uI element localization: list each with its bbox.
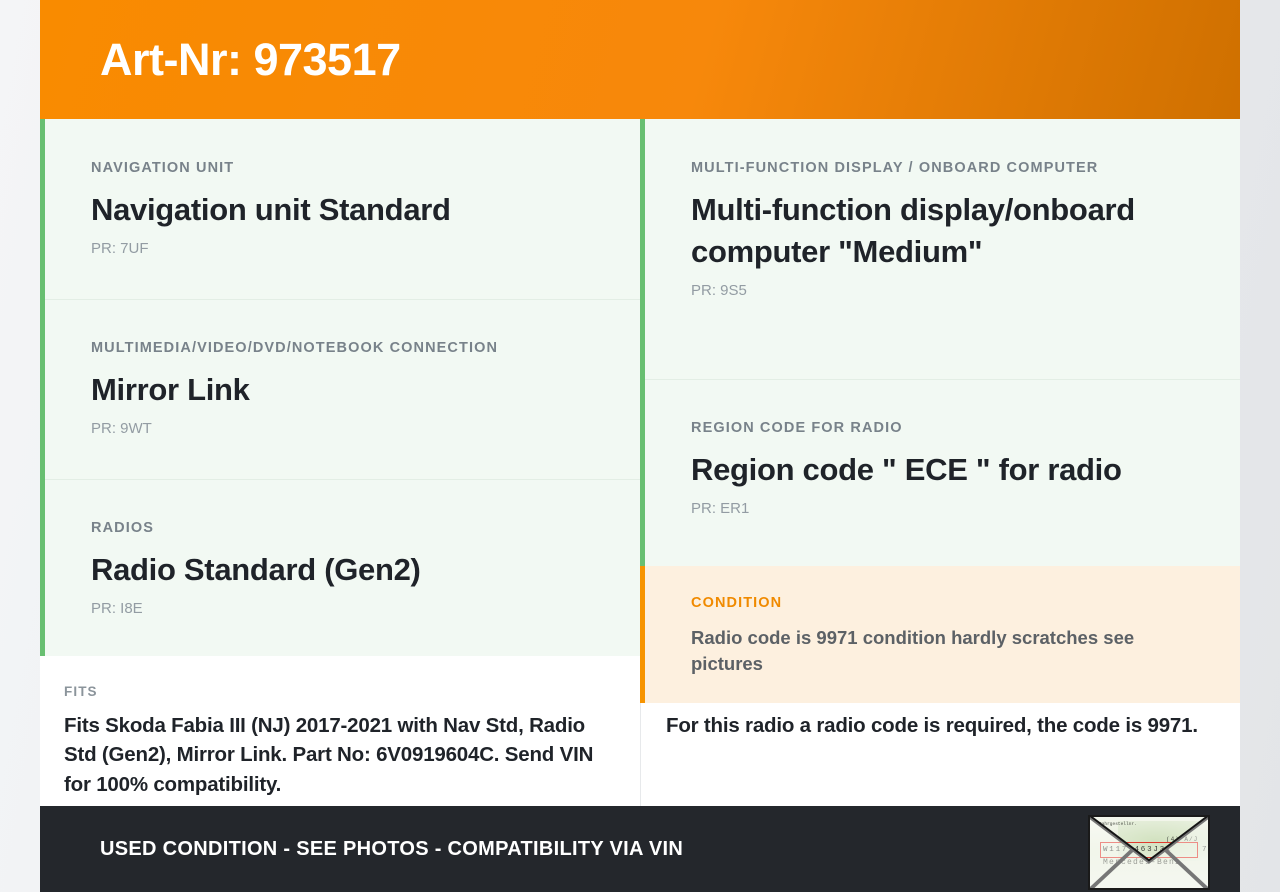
spec-label: RADIOS	[91, 521, 610, 536]
spec-card-navigation-unit: NAVIGATION UNIT Navigation unit Standard…	[45, 119, 640, 299]
spec-value: Radio Standard (Gen2)	[91, 549, 610, 591]
spec-card-multifunction-display: MULTI-FUNCTION DISPLAY / ONBOARD COMPUTE…	[645, 119, 1240, 379]
broken-image-thumbnail: Fahrgestellnr. (4) A/J W1171463J31 7 Mer…	[1088, 815, 1210, 890]
spec-pr-code: PR: 9WT	[91, 421, 610, 436]
fits-section: FITS Fits Skoda Fabia III (NJ) 2017-2021…	[40, 656, 640, 806]
fits-text: Fits Skoda Fabia III (NJ) 2017-2021 with…	[64, 711, 600, 801]
description-text: For this radio a radio code is required,…	[666, 711, 1200, 741]
envelope-icon	[1090, 817, 1208, 890]
spec-value: Region code " ECE " for radio	[691, 449, 1210, 491]
spec-pr-code: PR: ER1	[691, 501, 1210, 516]
spec-label: REGION CODE FOR RADIO	[691, 421, 1210, 436]
header-banner: Art-Nr: 973517	[40, 0, 1240, 119]
condition-text: Radio code is 9971 condition hardly scra…	[691, 625, 1210, 678]
condition-panel: CONDITION Radio code is 9971 condition h…	[640, 566, 1240, 703]
spec-column-left: NAVIGATION UNIT Navigation unit Standard…	[40, 119, 640, 656]
spec-column-right: MULTI-FUNCTION DISPLAY / ONBOARD COMPUTE…	[640, 119, 1240, 656]
spec-pr-code: PR: I8E	[91, 601, 610, 616]
spec-card-multimedia-connection: MULTIMEDIA/VIDEO/DVD/NOTEBOOK CONNECTION…	[45, 299, 640, 479]
spec-value: Navigation unit Standard	[91, 189, 610, 231]
spec-label: MULTIMEDIA/VIDEO/DVD/NOTEBOOK CONNECTION	[91, 341, 610, 356]
fits-label: FITS	[64, 685, 600, 699]
spec-card-region-code: REGION CODE FOR RADIO Region code " ECE …	[645, 379, 1240, 566]
article-number-title: Art-Nr: 973517	[100, 37, 401, 82]
spec-label: MULTI-FUNCTION DISPLAY / ONBOARD COMPUTE…	[691, 161, 1210, 176]
spec-pr-code: PR: 9S5	[691, 283, 1210, 298]
spec-label: NAVIGATION UNIT	[91, 161, 610, 176]
spec-value: Multi-function display/onboard computer …	[691, 189, 1210, 274]
specifications-grid: NAVIGATION UNIT Navigation unit Standard…	[40, 119, 1240, 656]
spec-value: Mirror Link	[91, 369, 610, 411]
footer-text: USED CONDITION - SEE PHOTOS - COMPATIBIL…	[100, 839, 683, 859]
condition-label: CONDITION	[691, 596, 1210, 611]
footer-banner: USED CONDITION - SEE PHOTOS - COMPATIBIL…	[40, 806, 1240, 892]
spec-pr-code: PR: 7UF	[91, 241, 610, 256]
listing-sheet: Art-Nr: 973517 NAVIGATION UNIT Navigatio…	[40, 0, 1240, 892]
spec-card-radios: RADIOS Radio Standard (Gen2) PR: I8E	[45, 479, 640, 656]
